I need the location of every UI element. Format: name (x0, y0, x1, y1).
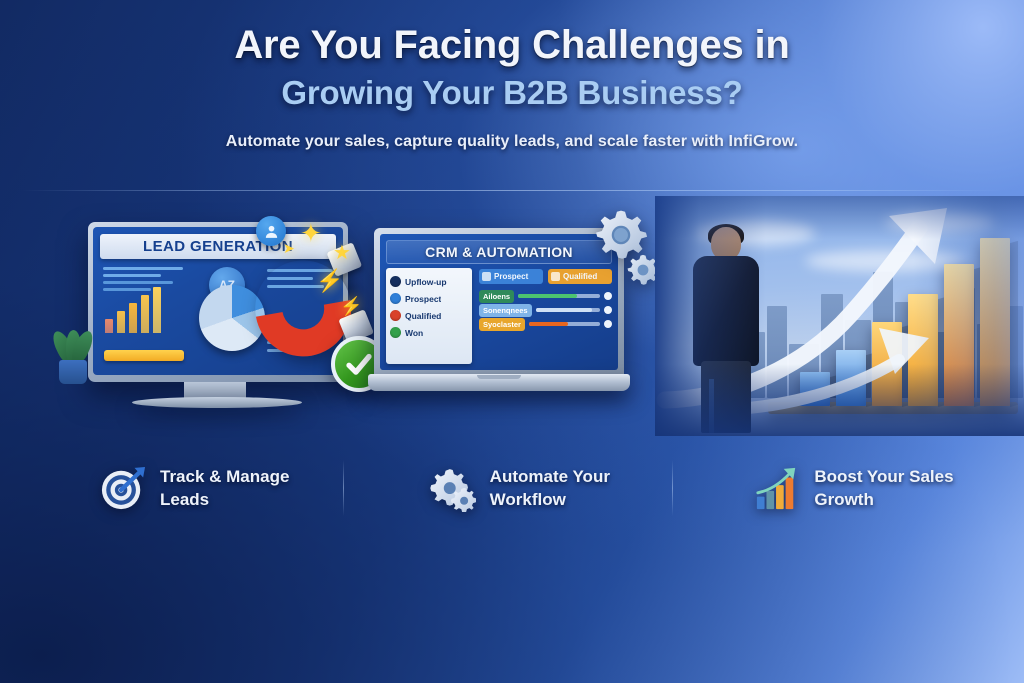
crm-right-panel: ProspectQualified AiloensSonenqneesSyocl… (479, 268, 612, 364)
slider-knob[interactable] (604, 292, 612, 300)
pipeline-stage-item[interactable]: Qualified (390, 307, 468, 324)
crm-tag-row: ProspectQualified (479, 269, 612, 284)
headline-line-1: Are You Facing Challenges in (0, 24, 1024, 67)
potted-plant (55, 318, 91, 384)
header-divider (22, 190, 1002, 191)
growth-chart-icon (754, 466, 800, 512)
monitor-bar-chart (105, 285, 161, 333)
laptop-lid: CRM & AUTOMATION Upflow-upProspectQualif… (374, 228, 624, 376)
feature-label-line-1: Track & Manage (160, 467, 289, 486)
monitor-bar (117, 311, 125, 333)
slider-fill (536, 308, 593, 312)
figure-leg-gap (709, 379, 714, 433)
crm-tag-label: Qualified (563, 272, 597, 281)
feature-label: Boost Your Sales Growth (814, 466, 953, 512)
pipeline-stage-label: Qualified (405, 311, 441, 321)
feature-track-manage-leads[interactable]: Track & Manage Leads (0, 452, 370, 526)
spark-icon: ⚡ (316, 268, 343, 294)
feature-label-line-1: Boost Your Sales (814, 467, 953, 486)
slider-knob[interactable] (604, 320, 612, 328)
growth-bar (980, 238, 1010, 406)
laptop-title: CRM & AUTOMATION (386, 240, 612, 264)
crm-slider-row[interactable]: Syoclaster (479, 317, 612, 331)
slider-track[interactable] (529, 322, 600, 326)
businessman-figure (685, 227, 765, 432)
pipeline-stage-dot (390, 276, 401, 287)
user-avatar-icon (256, 216, 286, 246)
crm-slider-row[interactable]: Ailoens (479, 289, 612, 303)
header: Are You Facing Challenges in Growing You… (0, 0, 1024, 151)
pipeline-stage-item[interactable]: Upflow-up (390, 273, 468, 290)
monitor-bar (105, 319, 113, 333)
slider-fill (529, 322, 568, 326)
slider-track[interactable] (518, 294, 600, 298)
pipeline-stage-item[interactable]: Prospect (390, 290, 468, 307)
headline-line-2: Growing Your B2B Business? (0, 75, 1024, 111)
pipeline-stage-list: Upflow-upProspectQualifiedWon (386, 268, 472, 364)
crm-tag[interactable]: Prospect (479, 269, 543, 284)
pipeline-stage-dot (390, 327, 401, 338)
feature-automate-workflow[interactable]: Automate Your Workflow (370, 452, 700, 526)
pipeline-stage-item[interactable]: Won (390, 324, 468, 341)
spark-icon: ★ (333, 240, 351, 265)
feature-label-line-2: Leads (160, 490, 209, 509)
plant-pot (59, 360, 87, 384)
slider-knob[interactable] (604, 306, 612, 314)
crm-dashboard: Upflow-upProspectQualifiedWon ProspectQu… (386, 268, 612, 364)
promo-banner: Are You Facing Challenges in Growing You… (0, 0, 1024, 683)
slider-label-chip: Syoclaster (479, 318, 525, 331)
feature-separator (343, 460, 344, 516)
subheadline: Automate your sales, capture quality lea… (0, 133, 1024, 151)
monitor-stand (184, 382, 246, 398)
laptop-screen: CRM & AUTOMATION Upflow-upProspectQualif… (380, 234, 618, 370)
feature-row: Track & Manage Leads (0, 452, 1024, 526)
gears-icon (430, 466, 476, 512)
spark-icon: ✦ (300, 218, 322, 249)
target-dart-icon (100, 466, 146, 512)
feature-label-line-1: Automate Your (490, 467, 610, 486)
pipeline-stage-dot (390, 293, 401, 304)
pipeline-stage-dot (390, 310, 401, 321)
pipeline-stage-label: Upflow-up (405, 277, 447, 287)
laptop-notch (477, 375, 521, 379)
slider-label-chip: Sonenqnees (479, 304, 532, 317)
feature-separator (672, 460, 673, 516)
pipeline-stage-label: Prospect (405, 294, 441, 304)
monitor-bar (153, 287, 161, 333)
tag-icon (482, 272, 491, 281)
slider-track[interactable] (536, 308, 600, 312)
crm-tag-label: Prospect (494, 272, 528, 281)
feature-boost-sales-growth[interactable]: Boost Your Sales Growth (699, 452, 1024, 526)
monitor-progress-bar (104, 350, 184, 361)
tag-icon (551, 272, 560, 281)
crm-automation-laptop: CRM & AUTOMATION Upflow-upProspectQualif… (368, 228, 630, 418)
feature-label: Track & Manage Leads (160, 466, 289, 512)
crm-slider-rows: AiloensSonenqneesSyoclaster (479, 289, 612, 331)
monitor-bar (141, 295, 149, 333)
spark-icon: ⚡ (340, 296, 362, 317)
slider-fill (518, 294, 577, 298)
pipeline-stage-label: Won (405, 328, 423, 338)
spark-icon: ➤ (283, 240, 295, 257)
crm-tag[interactable]: Qualified (548, 269, 612, 284)
feature-label: Automate Your Workflow (490, 466, 610, 512)
growth-scene (655, 196, 1024, 436)
figure-suit (693, 256, 759, 366)
monitor-base (132, 397, 302, 408)
slider-label-chip: Ailoens (479, 290, 514, 303)
feature-label-line-2: Workflow (490, 490, 566, 509)
monitor-bar (129, 303, 137, 333)
crm-slider-row[interactable]: Sonenqnees (479, 303, 612, 317)
feature-label-line-2: Growth (814, 490, 874, 509)
